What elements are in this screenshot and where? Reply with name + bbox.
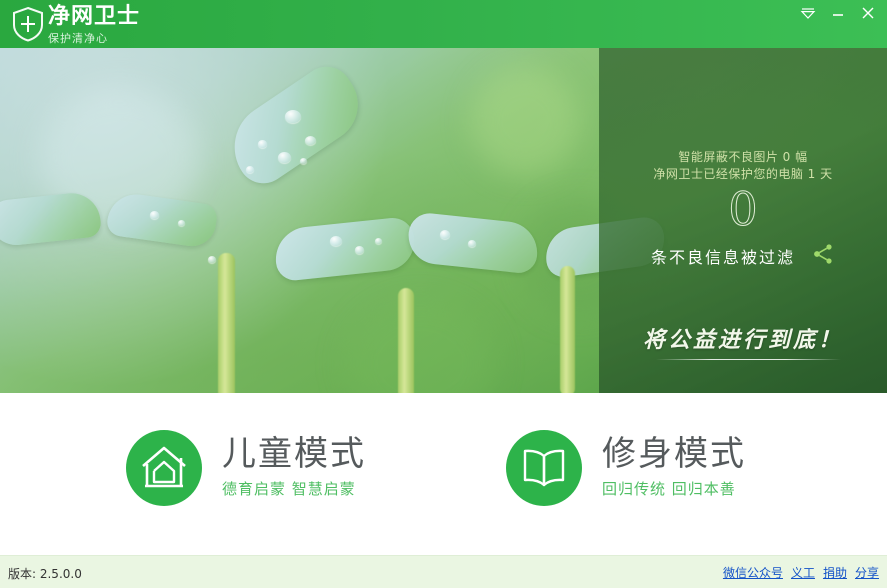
mode-section: 儿童模式 德育启蒙 智慧启蒙 修身模式 回归传统 回归本善 bbox=[0, 393, 887, 555]
minimize-icon bbox=[830, 6, 846, 20]
self-mode-texts: 修身模式 回归传统 回归本善 bbox=[602, 430, 746, 500]
footer-link-share[interactable]: 分享 bbox=[855, 564, 879, 581]
footer-bar: 版本: 2.5.0.0 微信公众号 义工 捐助 分享 bbox=[0, 555, 887, 588]
kids-mode-icon-circle bbox=[126, 430, 202, 506]
close-button[interactable] bbox=[853, 2, 883, 24]
house-icon bbox=[138, 444, 190, 492]
shield-logo-icon bbox=[10, 5, 46, 43]
self-mode-title: 修身模式 bbox=[602, 434, 746, 474]
footer-link-wechat[interactable]: 微信公众号 bbox=[723, 564, 783, 581]
kids-mode-texts: 儿童模式 德育启蒙 智慧启蒙 bbox=[222, 430, 366, 500]
filtered-count: 0 bbox=[599, 184, 887, 234]
bokeh-blob bbox=[470, 66, 580, 176]
brand-subtitle: 保护清净心 bbox=[48, 32, 140, 46]
self-mode-icon-circle bbox=[506, 430, 582, 506]
brand: 净网卫士 保护清净心 bbox=[48, 4, 140, 46]
version-label: 版本: 2.5.0.0 bbox=[8, 565, 82, 582]
title-bar: 净网卫士 保护清净心 bbox=[0, 0, 887, 48]
window-controls bbox=[793, 0, 883, 26]
footer-link-donate[interactable]: 捐助 bbox=[823, 564, 847, 581]
close-icon bbox=[860, 6, 876, 20]
filtered-label: 条不良信息被过滤 bbox=[651, 244, 795, 268]
minimize-button[interactable] bbox=[823, 2, 853, 24]
menu-icon bbox=[800, 6, 816, 20]
app-window: 净网卫士 保护清净心 bbox=[0, 0, 887, 588]
kids-mode-title: 儿童模式 bbox=[222, 434, 366, 474]
kids-mode-button[interactable]: 儿童模式 德育启蒙 智慧启蒙 bbox=[126, 430, 366, 506]
hero-banner: 智能屏蔽不良图片 0 幅 净网卫士已经保护您的电脑 1 天 0 条不良信息被过滤… bbox=[0, 48, 887, 393]
bokeh-blob bbox=[345, 298, 495, 393]
footer-links: 微信公众号 义工 捐助 分享 bbox=[723, 564, 879, 581]
seedling-edge-stem bbox=[560, 266, 575, 393]
blocked-images-text: 智能屏蔽不良图片 0 幅 bbox=[599, 149, 887, 166]
share-icon bbox=[811, 242, 835, 266]
protection-days-text: 净网卫士已经保护您的电脑 1 天 bbox=[599, 166, 887, 183]
charity-slogan: 将公益进行到底！ bbox=[599, 322, 887, 354]
menu-button[interactable] bbox=[793, 2, 823, 24]
brand-title: 净网卫士 bbox=[48, 4, 140, 30]
self-cultivation-mode-button[interactable]: 修身模式 回归传统 回归本善 bbox=[506, 430, 746, 506]
self-mode-subtitle: 回归传统 回归本善 bbox=[602, 478, 746, 500]
footer-link-volunteer[interactable]: 义工 bbox=[791, 564, 815, 581]
slogan-underline bbox=[656, 359, 841, 360]
filtered-row: 条不良信息被过滤 bbox=[599, 242, 887, 270]
open-book-icon bbox=[520, 446, 568, 490]
share-button[interactable] bbox=[811, 242, 835, 270]
kids-mode-subtitle: 德育启蒙 智慧启蒙 bbox=[222, 478, 366, 500]
stats-panel: 智能屏蔽不良图片 0 幅 净网卫士已经保护您的电脑 1 天 0 条不良信息被过滤… bbox=[599, 48, 887, 393]
